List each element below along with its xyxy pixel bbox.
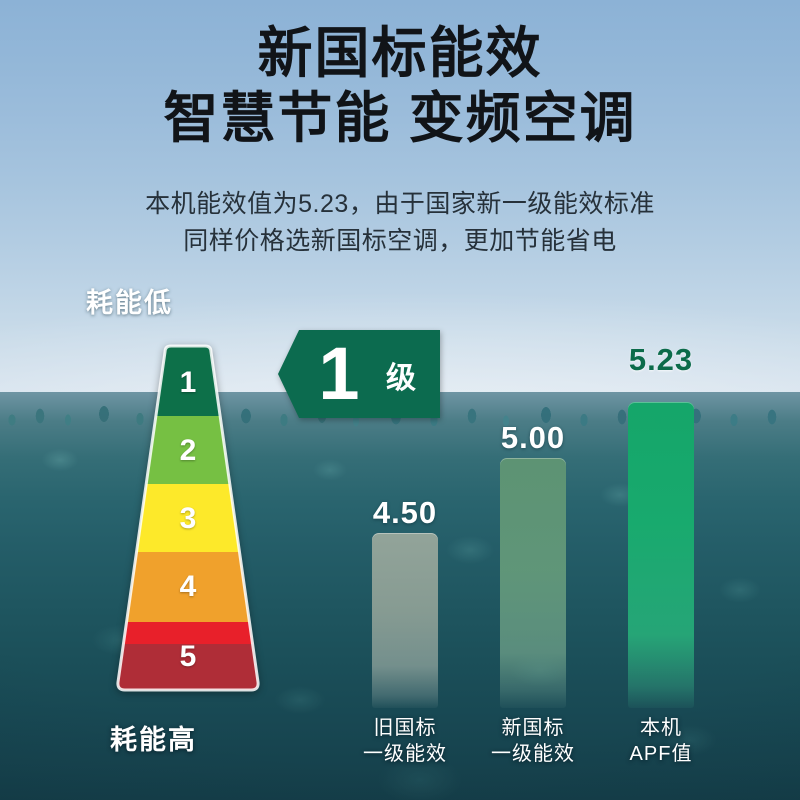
bar-caption-old-standard: 旧国标 一级能效	[340, 715, 470, 768]
energy-efficiency-poster: 新国标能效 智慧节能 变频空调 本机能效值为5.23，由于国家新一级能效标准 同…	[0, 0, 800, 800]
bar-caption-old-standard-line2: 一级能效	[340, 741, 470, 767]
bar-caption-new-standard-line1: 新国标	[468, 715, 598, 741]
subtitle: 本机能效值为5.23，由于国家新一级能效标准 同样价格选新国标空调，更加节能省电	[0, 186, 800, 259]
bar-value-old-standard: 4.50	[340, 495, 470, 531]
bar-value-this-unit: 5.23	[596, 342, 726, 378]
bar-caption-this-unit-line1: 本机	[596, 715, 726, 741]
pyramid-level-4: 4	[152, 570, 224, 604]
bar-caption-this-unit: 本机 APF值	[596, 715, 726, 768]
pyramid-level-3: 3	[156, 502, 220, 536]
subtitle-line-2: 同样价格选新国标空调，更加节能省电	[0, 223, 800, 260]
bar-column-old-standard: 4.50 旧国标 一级能效	[340, 330, 470, 800]
high-consumption-label: 耗能高	[110, 718, 310, 757]
bar-caption-new-standard-line2: 一级能效	[468, 741, 598, 767]
bar-this-unit	[628, 402, 694, 708]
headline-line-2: 智慧节能 变频空调	[0, 89, 800, 148]
efficiency-bar-chart: 4.50 旧国标 一级能效 5.00 新国标 一级能效 5.23 本机 APF值	[340, 330, 760, 800]
bar-old-standard	[372, 533, 438, 708]
pyramid-level-5: 5	[148, 640, 228, 674]
bar-caption-this-unit-line2: APF值	[596, 741, 726, 767]
bar-caption-old-standard-line1: 旧国标	[340, 715, 470, 741]
bar-caption-new-standard: 新国标 一级能效	[468, 715, 598, 768]
page-title: 新国标能效 智慧节能 变频空调	[0, 24, 800, 149]
bar-new-standard	[500, 458, 566, 708]
low-consumption-label: 耗能低	[86, 281, 286, 320]
pyramid-level-1: 1	[163, 366, 213, 400]
bar-column-new-standard: 5.00 新国标 一级能效	[468, 330, 598, 800]
bar-value-new-standard: 5.00	[468, 420, 598, 456]
bar-column-this-unit: 5.23 本机 APF值	[596, 330, 726, 800]
energy-pyramid: 1 2 3 4 5	[108, 344, 268, 696]
headline-line-1: 新国标能效	[0, 24, 800, 83]
pyramid-level-2: 2	[159, 434, 217, 468]
subtitle-line-1: 本机能效值为5.23，由于国家新一级能效标准	[0, 186, 800, 223]
